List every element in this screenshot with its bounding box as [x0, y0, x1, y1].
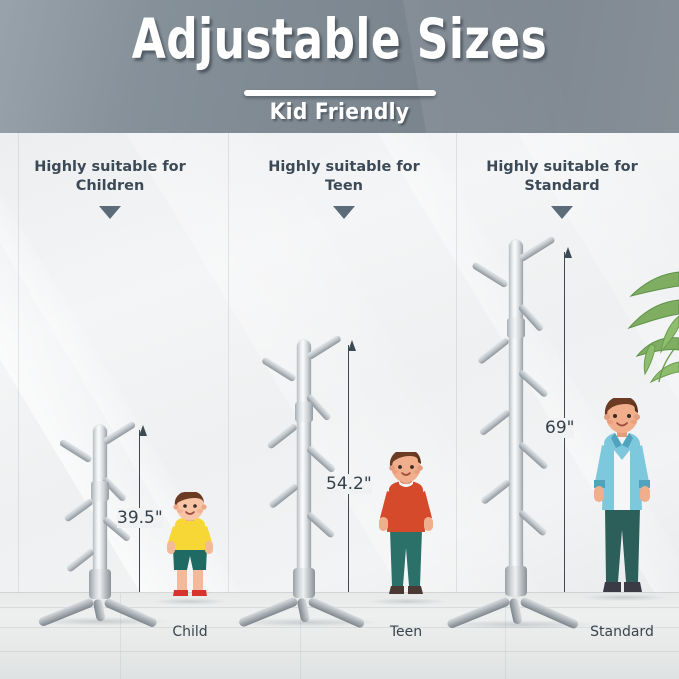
wall-seam: [18, 133, 19, 595]
rack-telescoping-joint: [295, 402, 313, 422]
triangle-down-icon: [99, 206, 121, 219]
figure-teen: [370, 452, 442, 605]
triangle-down-icon: [333, 206, 355, 219]
figure-shadow-standard: [580, 594, 668, 601]
rack-telescoping-joint: [91, 481, 109, 501]
wall-seam: [456, 133, 457, 595]
caption-standard: Standard: [562, 624, 679, 640]
column-label-teen-line2: Teen: [234, 177, 454, 196]
measure-value-standard: 69": [545, 418, 574, 438]
title-divider: [244, 90, 436, 96]
caption-child: Child: [130, 624, 250, 640]
figure-child: [155, 492, 225, 605]
column-label-teen-line1: Highly suitable for: [234, 158, 454, 177]
column-label-standard-line1: Highly suitable for: [452, 158, 672, 177]
column-label-standard: Highly suitable for Standard: [452, 158, 672, 196]
figure-standard: [582, 398, 662, 605]
wall-seam: [228, 133, 229, 595]
column-label-teen: Highly suitable for Teen: [234, 158, 454, 196]
rack-pole: [297, 340, 311, 596]
measure-value-teen: 54.2": [326, 474, 372, 494]
rack-telescoping-joint: [507, 318, 525, 338]
page-title: Adjustable Sizes: [68, 7, 611, 71]
measure-arrowhead-standard: [564, 247, 572, 258]
measure-arrowhead-teen: [348, 340, 356, 351]
column-label-child-line2: Children: [0, 177, 220, 196]
figure-shadow-child: [152, 598, 228, 605]
plant-decoration: [607, 252, 679, 402]
column-label-child: Highly suitable for Children: [0, 158, 220, 196]
triangle-down-icon: [551, 206, 573, 219]
page-subtitle: Kid Friendly: [27, 100, 652, 125]
rack-base-hub: [89, 569, 111, 599]
measure-line-teen: [348, 345, 349, 592]
rack-base-hub: [505, 566, 527, 596]
figure-shadow-teen: [367, 598, 447, 605]
rack-base-hub: [293, 568, 315, 598]
header-banner: Adjustable Sizes Kid Friendly: [0, 0, 679, 133]
measure-arrowhead-child: [139, 425, 147, 436]
column-label-child-line1: Highly suitable for: [0, 158, 220, 177]
infographic-root: Adjustable Sizes Kid Friendly: [0, 0, 679, 679]
column-label-standard-line2: Standard: [452, 177, 672, 196]
floor-plank-line: [0, 651, 679, 652]
rack-pole: [509, 240, 523, 596]
